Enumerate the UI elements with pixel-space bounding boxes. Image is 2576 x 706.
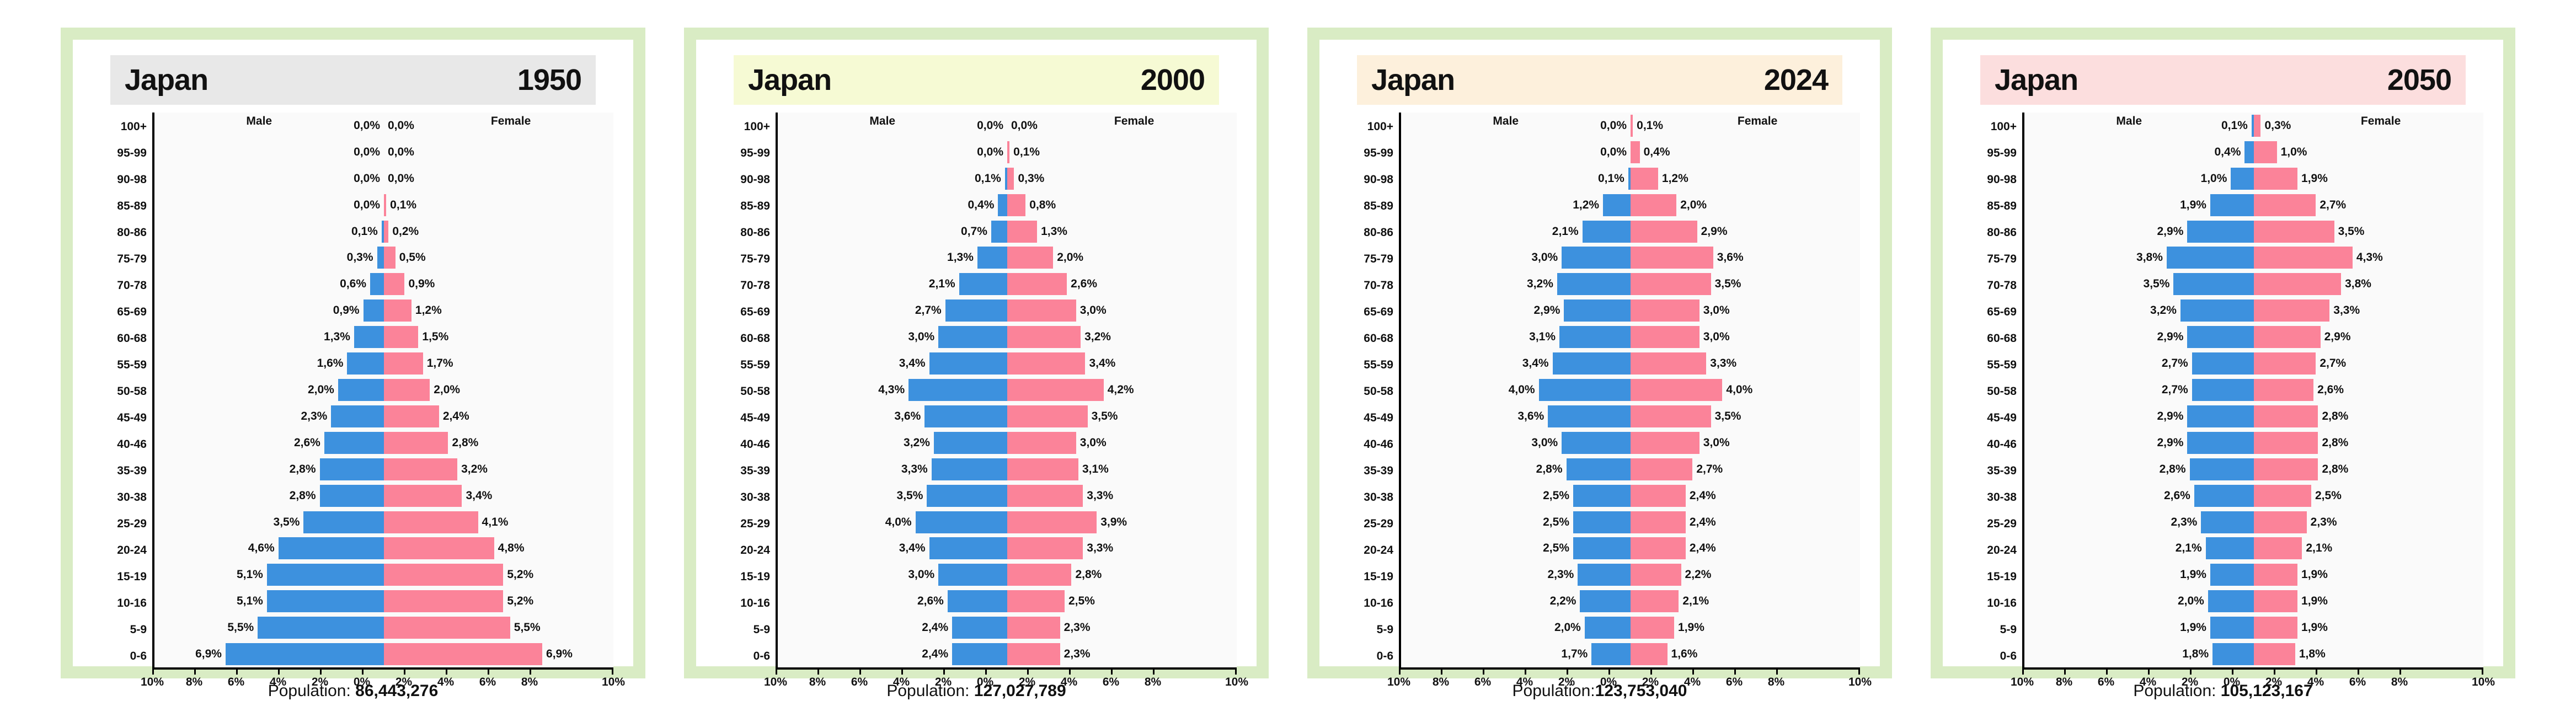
male-side: 2,8% — [154, 458, 384, 480]
female-side: 3,5% — [1631, 405, 1860, 427]
female-side: 2,8% — [1007, 564, 1237, 586]
male-side: 1,6% — [154, 352, 384, 375]
age-group-label: 85-89 — [716, 193, 776, 220]
pyramid-row: 2,3%2,3% — [2024, 509, 2483, 536]
female-bar — [1631, 194, 1676, 216]
female-value-label: 3,4% — [1089, 357, 1115, 370]
tick-label: 6% — [1103, 676, 1119, 689]
male-bar — [945, 299, 1007, 322]
female-value-label: 1,2% — [1662, 172, 1688, 185]
male-side: 1,9% — [2024, 564, 2254, 586]
tick-label: 4% — [1516, 676, 1533, 689]
female-bar — [1631, 405, 1711, 427]
male-side: 2,6% — [778, 590, 1007, 612]
female-side: 3,0% — [1007, 432, 1237, 454]
female-bar — [1007, 168, 1014, 190]
female-value-label: 2,0% — [1057, 251, 1083, 264]
female-bar — [1007, 405, 1088, 427]
female-side: 0,0% — [384, 168, 613, 190]
female-side: 3,0% — [1631, 299, 1860, 322]
male-side: 0,1% — [778, 168, 1007, 190]
female-bar — [1007, 432, 1076, 454]
male-side: 0,0% — [1401, 115, 1631, 137]
male-value-label: 1,3% — [947, 251, 974, 264]
age-group-label: 35-39 — [93, 458, 152, 484]
female-bar — [384, 299, 411, 322]
age-group-label: 55-59 — [1339, 352, 1399, 378]
female-value-label: 6,9% — [546, 648, 573, 661]
male-bar — [267, 564, 384, 586]
tick-label: 2% — [1642, 676, 1659, 689]
pyramid-row: 2,9%2,9% — [2024, 324, 2483, 350]
pyramid-row: 4,6%4,8% — [154, 536, 613, 562]
pyramid-panel: Japan2050100+95-9990-9885-8980-8675-7970… — [1931, 28, 2515, 678]
age-group-label: 15-19 — [93, 564, 152, 590]
panel-header: Japan2000 — [734, 55, 1219, 105]
tick-label: 4% — [2307, 676, 2324, 689]
female-bar — [384, 485, 462, 507]
pyramid-row: 2,9%3,5% — [2024, 218, 2483, 245]
tick-label: 4% — [1061, 676, 1077, 689]
male-side: 5,5% — [154, 617, 384, 639]
female-side: 1,2% — [1631, 168, 1860, 190]
female-side: 1,2% — [384, 299, 613, 322]
female-value-label: 0,0% — [388, 172, 414, 185]
pyramid-row: 0,4%1,0% — [2024, 139, 2483, 165]
female-bar — [1631, 379, 1722, 401]
age-group-label: 100+ — [1963, 114, 2022, 140]
pyramid-row: 0,4%0,8% — [778, 192, 1237, 218]
tick-mark — [1235, 670, 1237, 675]
female-bar — [1631, 590, 1679, 612]
male-bar — [2187, 432, 2254, 454]
male-bar — [338, 379, 384, 401]
age-group-label: 100+ — [93, 114, 152, 140]
male-bar — [2210, 564, 2254, 586]
tick-label: 10% — [2011, 676, 2034, 689]
female-side: 1,7% — [384, 352, 613, 375]
male-side: 0,6% — [154, 273, 384, 295]
age-group-label: 5-9 — [93, 617, 152, 643]
age-group-label: 35-39 — [716, 458, 776, 484]
female-bar — [384, 352, 423, 375]
female-side: 4,2% — [1007, 379, 1237, 401]
male-value-label: 0,0% — [354, 199, 380, 212]
male-bar — [377, 247, 384, 269]
female-side: 2,3% — [1007, 617, 1237, 639]
male-side: 5,1% — [154, 564, 384, 586]
pyramid-row: 1,0%1,9% — [2024, 165, 2483, 192]
pyramid-row: 0,1%0,3% — [2024, 113, 2483, 139]
female-bar — [1007, 643, 1060, 665]
plot-area: 100+95-9990-9885-8980-8675-7970-7865-696… — [1339, 113, 1860, 670]
male-value-label: 2,0% — [308, 383, 334, 397]
female-bar — [2254, 273, 2341, 295]
pyramid-row: 3,0%3,2% — [778, 324, 1237, 350]
tick-mark — [1650, 670, 1652, 675]
female-value-label: 1,7% — [427, 357, 453, 370]
male-value-label: 3,8% — [2136, 251, 2163, 264]
male-side: 3,0% — [1401, 432, 1631, 454]
tick-label: 8% — [809, 676, 826, 689]
tick-mark — [194, 670, 196, 675]
age-group-label: 60-68 — [1963, 325, 2022, 352]
male-value-label: 0,0% — [977, 146, 1003, 159]
tick-label: 8% — [1145, 676, 1161, 689]
pyramid-row: 1,9%1,9% — [2024, 561, 2483, 588]
female-side: 2,7% — [2254, 194, 2483, 216]
male-bar — [1573, 511, 1631, 533]
age-group-label: 50-58 — [1963, 378, 2022, 405]
male-value-label: 2,5% — [1543, 516, 1569, 529]
tick-label: 2% — [1558, 676, 1575, 689]
age-group-label: 50-58 — [93, 378, 152, 405]
tick-label: 10% — [1387, 676, 1410, 689]
age-group-label: 15-19 — [1339, 564, 1399, 590]
female-bar — [384, 537, 494, 559]
male-bar — [354, 326, 384, 348]
plot-area: 100+95-9990-9885-8980-8675-7970-7865-696… — [716, 113, 1237, 670]
female-value-label: 0,9% — [408, 277, 435, 291]
male-side: 2,9% — [2024, 432, 2254, 454]
male-side: 0,3% — [154, 247, 384, 269]
age-axis: 100+95-9990-9885-8980-8675-7970-7865-696… — [1339, 113, 1399, 670]
female-bar — [1007, 194, 1025, 216]
pyramid-row: 0,6%0,9% — [154, 271, 613, 297]
male-side: 3,4% — [778, 537, 1007, 559]
female-side: 2,8% — [2254, 458, 2483, 480]
age-axis: 100+95-9990-9885-8980-8675-7970-7865-696… — [93, 113, 152, 670]
male-bar — [324, 432, 384, 454]
male-value-label: 1,9% — [2180, 621, 2206, 634]
pyramid-row: 5,1%5,2% — [154, 561, 613, 588]
female-value-label: 2,0% — [434, 383, 460, 397]
male-bar — [929, 352, 1007, 375]
male-value-label: 2,9% — [2157, 436, 2184, 450]
male-value-label: 2,1% — [2176, 542, 2202, 555]
tick-mark — [2148, 670, 2150, 675]
male-side: 4,6% — [154, 537, 384, 559]
female-value-label: 0,5% — [399, 251, 426, 264]
tick-label: 8% — [1433, 676, 1449, 689]
pyramid-row: 1,3%2,0% — [778, 245, 1237, 271]
male-side: 2,1% — [1401, 221, 1631, 243]
male-side: 1,8% — [2024, 643, 2254, 665]
age-group-label: 75-79 — [716, 246, 776, 272]
pyramid-row: 4,0%4,0% — [1401, 377, 1860, 403]
male-bar — [2167, 247, 2254, 269]
female-side: 1,9% — [2254, 564, 2483, 586]
pyramid-row: 2,7%2,6% — [2024, 377, 2483, 403]
age-group-label: 45-49 — [716, 405, 776, 431]
panel-inner: Japan2024100+95-9990-9885-8980-8675-7970… — [1319, 40, 1880, 666]
age-group-label: 70-78 — [93, 272, 152, 299]
male-bar — [2212, 643, 2254, 665]
female-side: 3,3% — [1007, 537, 1237, 559]
male-value-label: 3,0% — [908, 568, 934, 581]
age-group-label: 50-58 — [1339, 378, 1399, 405]
age-group-label: 10-16 — [716, 590, 776, 617]
female-side: 2,9% — [1631, 221, 1860, 243]
year-label: 2050 — [2387, 63, 2451, 97]
male-value-label: 3,6% — [1517, 410, 1544, 423]
male-bar — [1580, 590, 1631, 612]
female-side: 3,6% — [1631, 247, 1860, 269]
female-side: 0,1% — [1007, 141, 1237, 163]
male-value-label: 2,8% — [1536, 463, 1563, 476]
tick-label: 8% — [1768, 676, 1784, 689]
age-group-label: 30-38 — [93, 484, 152, 511]
female-side: 2,3% — [2254, 511, 2483, 533]
age-group-label: 55-59 — [1963, 352, 2022, 378]
female-side: 6,9% — [384, 643, 613, 665]
male-bar — [938, 564, 1007, 586]
female-value-label: 3,5% — [1715, 277, 1741, 291]
female-bar — [2254, 458, 2318, 480]
pyramid-row: 3,5%3,8% — [2024, 271, 2483, 297]
pyramid-row: 3,5%4,1% — [154, 509, 613, 536]
male-side: 1,7% — [1401, 643, 1631, 665]
tick-mark — [1111, 670, 1113, 675]
female-bar — [384, 405, 439, 427]
female-side: 0,3% — [1007, 168, 1237, 190]
male-side: 2,5% — [1401, 485, 1631, 507]
age-group-label: 70-78 — [1963, 272, 2022, 299]
female-bar — [2254, 643, 2295, 665]
female-bar — [1007, 537, 1083, 559]
age-group-label: 10-16 — [1963, 590, 2022, 617]
male-bar — [370, 273, 384, 295]
tick-mark — [1567, 670, 1568, 675]
tick-mark — [320, 670, 322, 675]
male-value-label: 1,0% — [2201, 172, 2227, 185]
male-value-label: 3,4% — [899, 542, 926, 555]
male-side: 3,2% — [2024, 299, 2254, 322]
female-bar — [1007, 299, 1076, 322]
tick-mark — [612, 670, 613, 675]
female-value-label: 2,7% — [2320, 357, 2346, 370]
age-group-label: 40-46 — [1339, 431, 1399, 458]
female-value-label: 3,6% — [1717, 251, 1744, 264]
age-group-label: 20-24 — [716, 537, 776, 564]
male-value-label: 3,0% — [1531, 436, 1558, 450]
female-bar — [1631, 511, 1686, 533]
age-group-label: 30-38 — [716, 484, 776, 511]
age-group-label: 85-89 — [93, 193, 152, 220]
female-bar — [1631, 247, 1713, 269]
female-value-label: 1,9% — [2301, 621, 2328, 634]
female-value-label: 0,0% — [388, 119, 414, 132]
pyramid-row: 3,4%3,3% — [778, 536, 1237, 562]
female-bar — [1007, 247, 1053, 269]
male-side: 3,4% — [778, 352, 1007, 375]
age-group-label: 25-29 — [1339, 511, 1399, 537]
age-group-label: 95-99 — [1339, 140, 1399, 167]
axes-box: MaleFemale0,0%0,0%0,0%0,1%0,1%0,3%0,4%0,… — [776, 113, 1237, 670]
female-bar — [1631, 537, 1686, 559]
age-group-label: 10-16 — [1339, 590, 1399, 617]
female-bar — [384, 590, 503, 612]
male-side: 2,7% — [2024, 352, 2254, 375]
male-value-label: 5,1% — [237, 568, 263, 581]
female-bar — [1631, 299, 1699, 322]
tick-label: 0% — [1600, 676, 1617, 689]
age-group-label: 25-29 — [93, 511, 152, 537]
female-side: 2,8% — [2254, 405, 2483, 427]
male-bar — [320, 485, 384, 507]
year-label: 2000 — [1141, 63, 1205, 97]
tick-mark — [859, 670, 861, 675]
female-value-label: 4,3% — [2356, 251, 2383, 264]
male-value-label: 2,9% — [2157, 410, 2184, 423]
age-group-label: 45-49 — [1963, 405, 2022, 431]
male-side: 2,6% — [154, 432, 384, 454]
male-value-label: 2,2% — [1550, 595, 1576, 608]
female-value-label: 1,6% — [1671, 648, 1698, 661]
female-side: 4,0% — [1631, 379, 1860, 401]
female-side: 1,3% — [1007, 221, 1237, 243]
female-value-label: 1,9% — [2301, 595, 2328, 608]
tick-label: 0% — [354, 676, 370, 689]
pyramid-row: 2,3%2,2% — [1401, 561, 1860, 588]
tick-label: 8% — [521, 676, 538, 689]
female-value-label: 2,3% — [2311, 516, 2337, 529]
tick-label: 6% — [1474, 676, 1491, 689]
age-group-label: 80-86 — [1963, 220, 2022, 246]
age-group-label: 100+ — [1339, 114, 1399, 140]
female-value-label: 3,9% — [1100, 516, 1127, 529]
female-side: 2,2% — [1631, 564, 1860, 586]
female-value-label: 1,0% — [2281, 146, 2307, 159]
male-side: 2,4% — [778, 643, 1007, 665]
age-group-label: 40-46 — [716, 431, 776, 458]
tick-label: 8% — [2056, 676, 2072, 689]
female-side: 2,6% — [2254, 379, 2483, 401]
female-value-label: 3,5% — [1715, 410, 1741, 423]
female-value-label: 2,1% — [1682, 595, 1709, 608]
male-bar — [364, 299, 384, 322]
male-bar — [1562, 432, 1631, 454]
pyramid-row: 3,1%3,0% — [1401, 324, 1860, 350]
female-side: 0,2% — [384, 221, 613, 243]
tick-label: 6% — [2349, 676, 2366, 689]
male-side: 6,9% — [154, 643, 384, 665]
male-side: 3,0% — [778, 326, 1007, 348]
male-value-label: 2,3% — [1547, 568, 1574, 581]
female-bar — [1631, 564, 1681, 586]
female-value-label: 1,2% — [415, 304, 442, 317]
male-value-label: 2,3% — [301, 410, 327, 423]
male-bar — [908, 379, 1007, 401]
male-value-label: 1,3% — [324, 330, 350, 344]
tick-mark — [985, 670, 987, 675]
male-value-label: 0,0% — [977, 119, 1003, 132]
male-bar — [258, 617, 384, 639]
female-side: 3,0% — [1631, 432, 1860, 454]
pyramid-row: 4,0%3,9% — [778, 509, 1237, 536]
pyramid-panel: Japan1950100+95-9990-9885-8980-8675-7970… — [61, 28, 645, 678]
male-side: 2,8% — [1401, 458, 1631, 480]
male-bar — [2210, 617, 2254, 639]
age-group-label: 80-86 — [716, 220, 776, 246]
female-bar — [2254, 485, 2311, 507]
female-value-label: 5,2% — [507, 568, 533, 581]
male-side: 2,0% — [154, 379, 384, 401]
male-side: 2,1% — [2024, 537, 2254, 559]
female-side: 2,5% — [2254, 485, 2483, 507]
age-group-label: 35-39 — [1963, 458, 2022, 484]
female-bar — [2254, 379, 2313, 401]
female-side: 2,1% — [1631, 590, 1860, 612]
pyramid-row: 0,0%0,4% — [1401, 139, 1860, 165]
male-side: 2,7% — [2024, 379, 2254, 401]
pyramid-row: 0,1%0,3% — [778, 165, 1237, 192]
male-value-label: 3,2% — [2150, 304, 2177, 317]
female-bar — [1631, 273, 1711, 295]
age-group-label: 5-9 — [716, 617, 776, 643]
tick-mark — [1399, 670, 1401, 675]
male-side: 3,6% — [1401, 405, 1631, 427]
male-bar — [331, 405, 384, 427]
pyramid-row: 0,0%0,1% — [1401, 113, 1860, 139]
male-value-label: 2,9% — [2157, 225, 2184, 238]
female-bar — [1631, 326, 1699, 348]
female-value-label: 2,3% — [1064, 621, 1091, 634]
female-bar — [2254, 141, 2277, 163]
age-group-label: 20-24 — [1339, 537, 1399, 564]
female-side: 2,0% — [384, 379, 613, 401]
male-bar — [977, 247, 1007, 269]
male-side: 4,0% — [778, 511, 1007, 533]
male-bar — [2194, 485, 2254, 507]
male-side: 3,4% — [1401, 352, 1631, 375]
male-side: 0,9% — [154, 299, 384, 322]
female-side: 0,5% — [384, 247, 613, 269]
tick-mark — [1441, 670, 1442, 675]
age-group-label: 75-79 — [1963, 246, 2022, 272]
female-value-label: 2,5% — [2315, 489, 2342, 502]
female-bar — [1007, 485, 1083, 507]
male-side: 0,0% — [154, 194, 384, 216]
age-group-label: 5-9 — [1963, 617, 2022, 643]
male-value-label: 0,0% — [354, 172, 380, 185]
male-bar — [1539, 379, 1631, 401]
female-side: 2,5% — [1007, 590, 1237, 612]
age-group-label: 90-98 — [93, 167, 152, 193]
tick-mark — [152, 670, 154, 675]
female-value-label: 3,0% — [1703, 330, 1730, 344]
male-side: 5,1% — [154, 590, 384, 612]
male-value-label: 2,9% — [1534, 304, 1560, 317]
male-value-label: 0,9% — [333, 304, 360, 317]
female-side: 2,0% — [1631, 194, 1860, 216]
female-value-label: 3,5% — [1092, 410, 1118, 423]
male-value-label: 3,2% — [904, 436, 930, 450]
tick-mark — [530, 670, 531, 675]
female-value-label: 2,6% — [1071, 277, 1097, 291]
tick-label: 6% — [228, 676, 244, 689]
female-bar — [2254, 326, 2321, 348]
female-bar — [2254, 511, 2307, 533]
male-value-label: 3,2% — [1527, 277, 1553, 291]
tick-label: 6% — [2098, 676, 2114, 689]
male-value-label: 1,8% — [2182, 648, 2209, 661]
population-pyramid-board: Japan1950100+95-9990-9885-8980-8675-7970… — [0, 0, 2576, 706]
tick-label: 10% — [1225, 676, 1248, 689]
tick-label: 0% — [2224, 676, 2240, 689]
panel-inner: Japan2000100+95-9990-9885-8980-8675-7970… — [696, 40, 1257, 666]
pyramid-row: 2,1%2,1% — [2024, 536, 2483, 562]
